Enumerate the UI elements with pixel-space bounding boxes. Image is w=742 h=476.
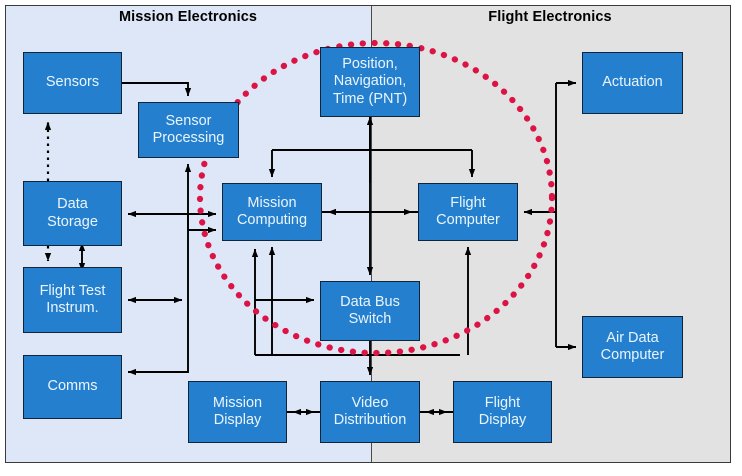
node-comms[interactable]: Comms (23, 355, 122, 419)
node-flight-computer[interactable]: Flight Computer (418, 183, 518, 241)
node-actuation[interactable]: Actuation (582, 52, 683, 114)
node-mission-display[interactable]: Mission Display (188, 381, 287, 443)
diagram-canvas: Mission Electronics Flight Electronics (0, 0, 742, 476)
node-pnt[interactable]: Position, Navigation, Time (PNT) (320, 47, 420, 117)
node-flight-test-instr[interactable]: Flight Test Instrum. (23, 267, 122, 333)
panel-title-mission-electronics: Mission Electronics (5, 9, 371, 25)
panel-title-flight-electronics: Flight Electronics (371, 9, 729, 25)
node-data-storage[interactable]: Data Storage (23, 181, 122, 246)
node-air-data-computer[interactable]: Air Data Computer (582, 316, 683, 378)
node-video-distribution[interactable]: Video Distribution (320, 381, 420, 443)
node-flight-display[interactable]: Flight Display (453, 381, 552, 443)
node-data-bus-switch[interactable]: Data Bus Switch (320, 281, 420, 341)
node-mission-computing[interactable]: Mission Computing (222, 183, 322, 241)
node-sensors[interactable]: Sensors (23, 52, 122, 114)
node-sensor-processing[interactable]: Sensor Processing (138, 102, 239, 158)
